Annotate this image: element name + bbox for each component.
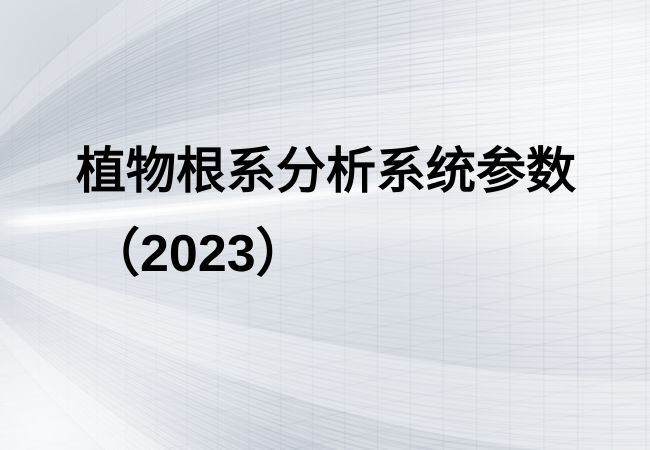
title-slide: 植物根系分析系统参数 （2023） [0,0,650,450]
background-decorative-mesh [0,0,650,450]
